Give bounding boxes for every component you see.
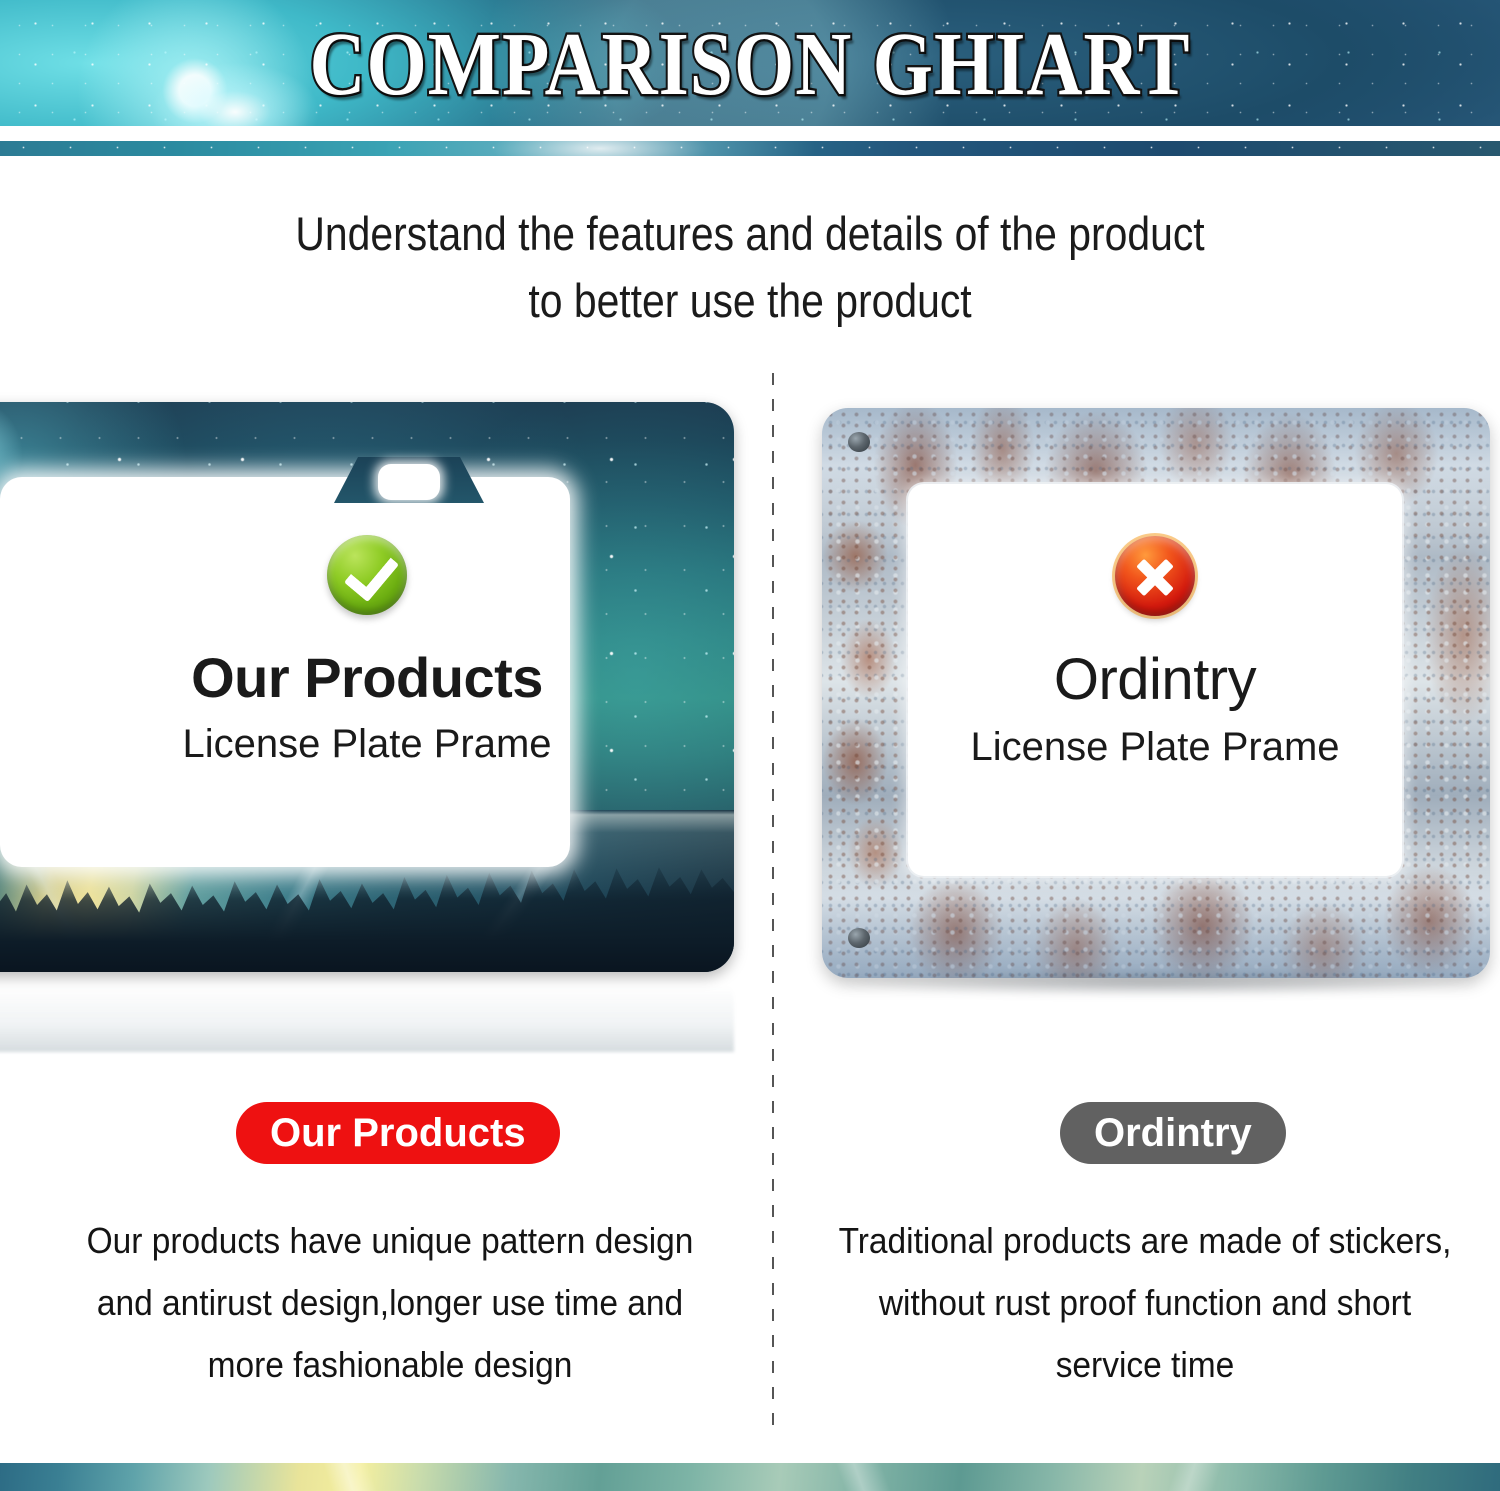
subtitle-line-2: to better use the product [98, 267, 1403, 334]
left-frame-reflection [0, 974, 734, 1052]
status-badge-ordintry: Ordintry [1060, 1102, 1286, 1164]
header-accent-strip [0, 141, 1500, 156]
description-line: service time [824, 1334, 1466, 1396]
our-product-label-group: Our Products License Plate Prame [82, 535, 652, 767]
footer-landscape-strip [0, 1463, 1500, 1491]
header-banner: COMPARISON GHIART [0, 0, 1500, 126]
frame-notch-hole [378, 464, 440, 500]
ordinary-product-subtitle: License Plate Prame [908, 725, 1402, 770]
red-cross-icon [1115, 536, 1195, 616]
landscape-light-streaks [0, 1463, 1500, 1491]
comparison-chart-page: COMPARISON GHIART Understand the feature… [0, 0, 1500, 1491]
our-product-description: Our products have unique pattern design … [65, 1210, 716, 1396]
description-line: Our products have unique pattern design [65, 1210, 716, 1272]
starfield-texture-strip [0, 141, 1500, 156]
ordinary-product-title: Ordintry [908, 650, 1402, 711]
subtitle-line-1: Understand the features and details of t… [98, 200, 1403, 267]
green-check-icon [327, 535, 407, 615]
right-frame-shadow [838, 970, 1478, 996]
ordinary-product-label-group: Ordintry License Plate Prame [908, 536, 1402, 770]
description-line: without rust proof function and short [824, 1272, 1466, 1334]
product-comparison-stage: Our Products License Plate Prame Ordintr… [0, 390, 1500, 1050]
subtitle-block: Understand the features and details of t… [98, 200, 1403, 334]
page-title: COMPARISON GHIART [0, 14, 1500, 117]
description-line: and antirust design,longer use time and [65, 1272, 716, 1334]
description-line: Traditional products are made of sticker… [824, 1210, 1466, 1272]
status-badge-our-products: Our Products [236, 1102, 560, 1164]
our-product-title: Our Products [82, 649, 652, 708]
screw-hole-bottom-left [848, 928, 870, 948]
description-line: more fashionable design [65, 1334, 716, 1396]
screw-hole-top-left [848, 432, 870, 452]
our-product-subtitle: License Plate Prame [82, 722, 652, 767]
ordinary-product-description: Traditional products are made of sticker… [824, 1210, 1466, 1396]
